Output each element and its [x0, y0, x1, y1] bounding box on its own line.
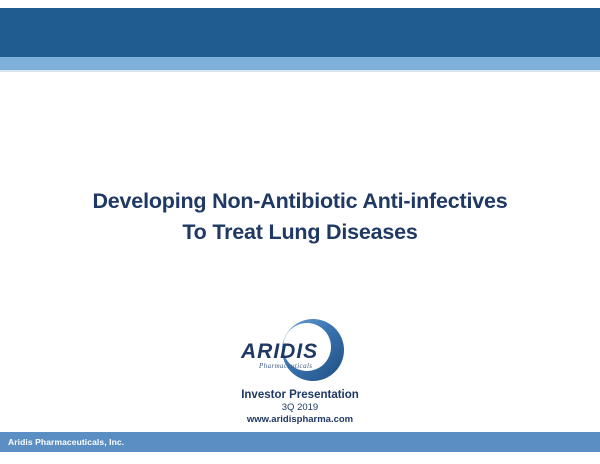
logo-caption: Investor Presentation 3Q 2019 www.aridis… [0, 388, 600, 426]
slide-title: Developing Non-Antibiotic Anti-infective… [0, 186, 600, 248]
aridis-logo: ARIDIS Pharmaceuticals [235, 316, 365, 384]
logo-block: ARIDIS Pharmaceuticals [0, 316, 600, 389]
header-band-hairline [0, 70, 600, 72]
logo-tagline-text: Pharmaceuticals [258, 362, 312, 370]
presentation-period: 3Q 2019 [0, 402, 600, 414]
logo-wordmark-text: ARIDIS [240, 340, 318, 363]
header-band-light-blue [0, 57, 600, 70]
header-band-dark-blue [0, 8, 600, 57]
company-website[interactable]: www.aridispharma.com [0, 414, 600, 426]
footer-company-name: Aridis Pharmaceuticals, Inc. [8, 432, 124, 452]
slide-title-line-1: Developing Non-Antibiotic Anti-infective… [0, 186, 600, 217]
slide-title-line-2: To Treat Lung Diseases [0, 217, 600, 248]
footer-bar: Aridis Pharmaceuticals, Inc. [0, 432, 600, 452]
presentation-slide: Developing Non-Antibiotic Anti-infective… [0, 0, 600, 464]
presentation-label: Investor Presentation [0, 388, 600, 402]
